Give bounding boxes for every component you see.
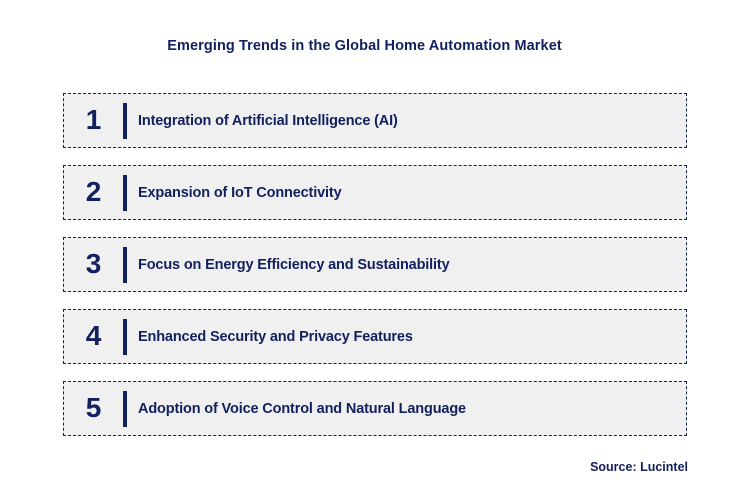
trend-label: Adoption of Voice Control and Natural La… <box>127 401 466 417</box>
trend-label: Enhanced Security and Privacy Features <box>127 329 413 345</box>
source-attribution: Source: Lucintel <box>590 460 688 474</box>
list-item[interactable]: 4 Enhanced Security and Privacy Features <box>63 309 687 364</box>
trend-list: 1 Integration of Artificial Intelligence… <box>63 93 687 436</box>
list-item[interactable]: 5 Adoption of Voice Control and Natural … <box>63 381 687 436</box>
trend-label: Integration of Artificial Intelligence (… <box>127 113 398 129</box>
infographic-page: Emerging Trends in the Global Home Autom… <box>0 0 729 498</box>
list-item[interactable]: 1 Integration of Artificial Intelligence… <box>63 93 687 148</box>
rank-number: 4 <box>64 322 123 352</box>
trend-label: Expansion of IoT Connectivity <box>127 185 342 201</box>
page-title: Emerging Trends in the Global Home Autom… <box>0 38 729 54</box>
rank-number: 1 <box>64 106 123 136</box>
list-item[interactable]: 3 Focus on Energy Efficiency and Sustain… <box>63 237 687 292</box>
rank-number: 5 <box>64 394 123 424</box>
rank-number: 2 <box>64 178 123 208</box>
trend-label: Focus on Energy Efficiency and Sustainab… <box>127 257 450 273</box>
list-item[interactable]: 2 Expansion of IoT Connectivity <box>63 165 687 220</box>
rank-number: 3 <box>64 250 123 280</box>
